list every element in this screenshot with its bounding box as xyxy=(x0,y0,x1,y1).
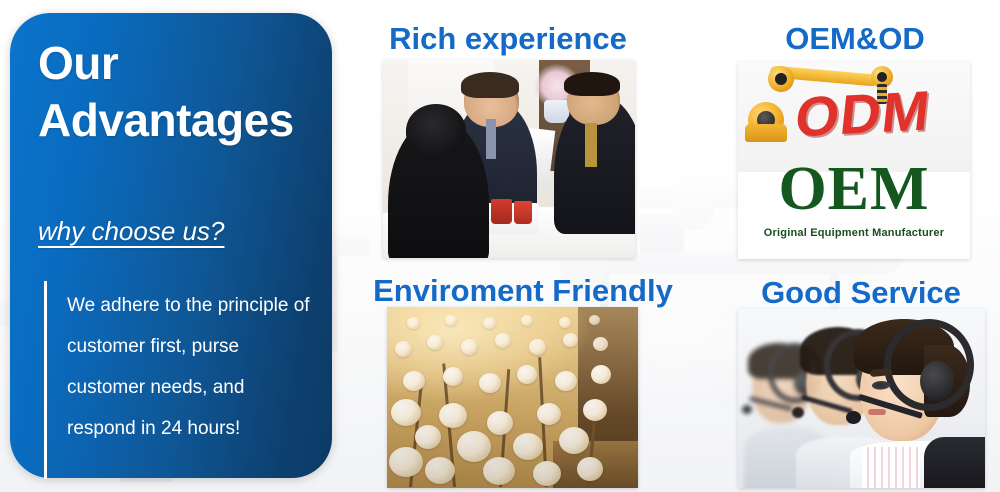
meeting-hair-right xyxy=(564,72,619,96)
panel-body-text: We adhere to the principle of customer f… xyxy=(67,285,312,449)
meeting-hair-center xyxy=(461,72,519,98)
photo-cotton-field xyxy=(387,307,638,488)
panel-subtitle: why choose us? xyxy=(38,216,224,247)
meeting-cup xyxy=(491,199,511,225)
photo-oem-odm-logo: ODM OEM Original Equipment Manufacturer xyxy=(738,62,970,259)
odm-wordmark: ODM xyxy=(796,86,968,142)
robot-arm-base xyxy=(745,124,787,142)
meeting-head-left xyxy=(406,104,466,157)
meeting-cup xyxy=(514,201,532,225)
card-heading-good-service: Good Service xyxy=(737,276,985,310)
panel-divider-rule xyxy=(44,281,47,479)
photo-good-service xyxy=(738,309,985,488)
odm-wordmark-text: ODM xyxy=(793,83,934,146)
robot-arm-elbow xyxy=(768,66,794,92)
cotton-field-shading xyxy=(387,307,638,488)
advantages-panel: Our Advantages why choose us? We adhere … xyxy=(10,13,332,478)
page-title: Our Advantages xyxy=(38,35,318,149)
advantages-banner: Our Advantages why choose us? We adhere … xyxy=(0,0,1000,492)
card-heading-rich-experience: Rich experience xyxy=(383,22,633,56)
card-heading-oem-odm: OEM&OD xyxy=(740,22,970,56)
page-title-line1: Our xyxy=(38,35,318,92)
meeting-tie-center xyxy=(486,119,496,159)
oem-wordmark: OEM xyxy=(738,158,970,220)
meeting-tie-right xyxy=(585,123,598,167)
photo-rich-experience xyxy=(383,60,635,258)
card-heading-enviroment-friendly: Enviroment Friendly xyxy=(363,274,683,308)
oem-caption: Original Equipment Manufacturer xyxy=(738,227,970,239)
page-title-line2: Advantages xyxy=(38,92,318,149)
